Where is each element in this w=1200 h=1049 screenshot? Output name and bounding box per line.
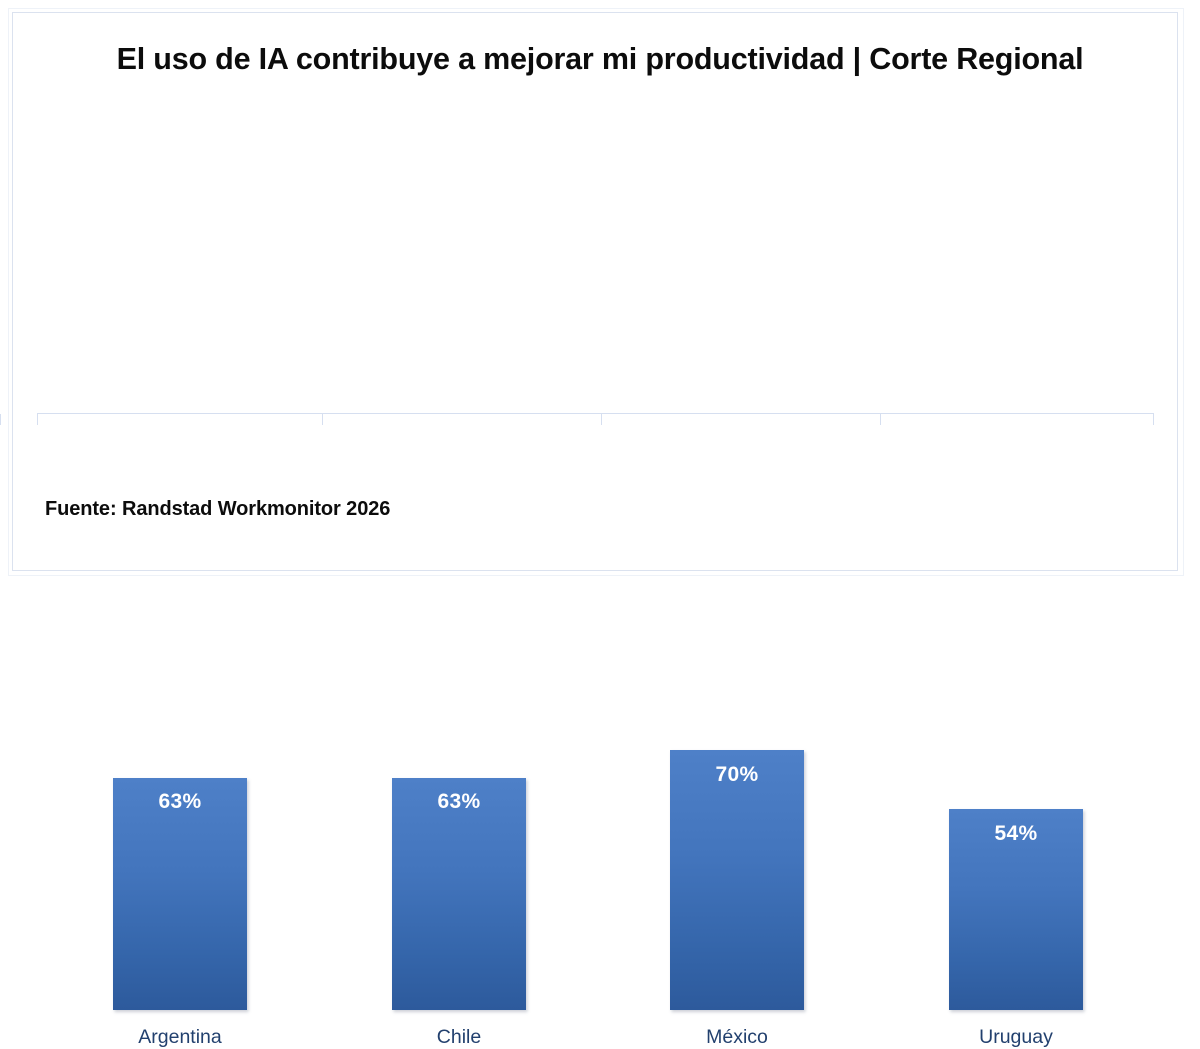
bar-value-chile: 63% [392,790,526,814]
source-note: Fuente: Randstad Workmonitor 2026 [45,498,390,521]
axis-tick-placeholder [0,414,1,425]
category-label-mexico: México [637,1026,837,1049]
category-axis-line [37,413,1154,414]
bar-value-uruguay: 54% [949,822,1083,846]
slide-canvas: El uso de IA contribuye a mejorar mi pro… [0,0,1200,596]
axis-tick-1 [322,414,323,425]
bar-value-mexico: 70% [670,763,804,787]
axis-tick-3 [880,414,881,425]
axis-tick-2 [601,414,602,425]
category-label-uruguay: Uruguay [916,1026,1116,1049]
category-label-argentina: Argentina [80,1026,280,1049]
category-label-chile: Chile [359,1026,559,1049]
bar-value-argentina: 63% [113,790,247,814]
axis-tick-4 [1153,414,1154,425]
bar-mexico[interactable] [670,750,804,1010]
axis-tick-0 [37,414,38,425]
